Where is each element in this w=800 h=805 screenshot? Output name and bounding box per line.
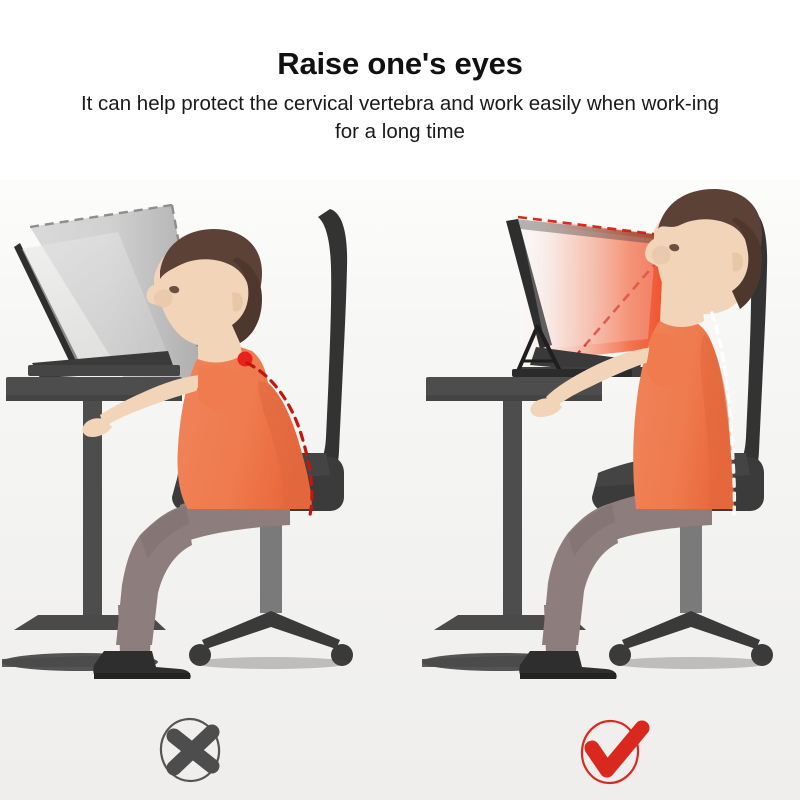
page-subtitle: It can help protect the cervical vertebr… [80,82,720,147]
verdict-badges-row [0,700,800,800]
chair-base-left [202,611,340,649]
page-title: Raise one's eyes [0,0,800,82]
subtitle-line-1: It can help protect the cervical vertebr… [81,92,692,115]
cross-x-icon [174,732,212,768]
chair-floor-shadow-left [193,657,349,669]
good-posture-badge [560,700,670,800]
shoe-sole-right [520,673,616,679]
desk-pedestal-right [503,401,522,623]
bad-posture-badge [140,700,250,800]
chair-floor-shadow-right [613,657,769,669]
chair-base-right [622,611,760,649]
pants-shin-left [118,605,152,653]
desk-top-edge-right [426,395,602,401]
header-block: Raise one's eyes It can help protect the… [0,0,800,180]
infographic-page: Raise one's eyes It can help protect the… [0,0,800,800]
good-posture-illustration [422,189,773,679]
laptop-keyboard-deck-left [28,365,180,376]
pants-shin-right [544,605,578,653]
bad-posture-illustration [2,205,353,679]
shoe-sole-left [94,673,190,679]
check-mark-icon [592,728,642,770]
